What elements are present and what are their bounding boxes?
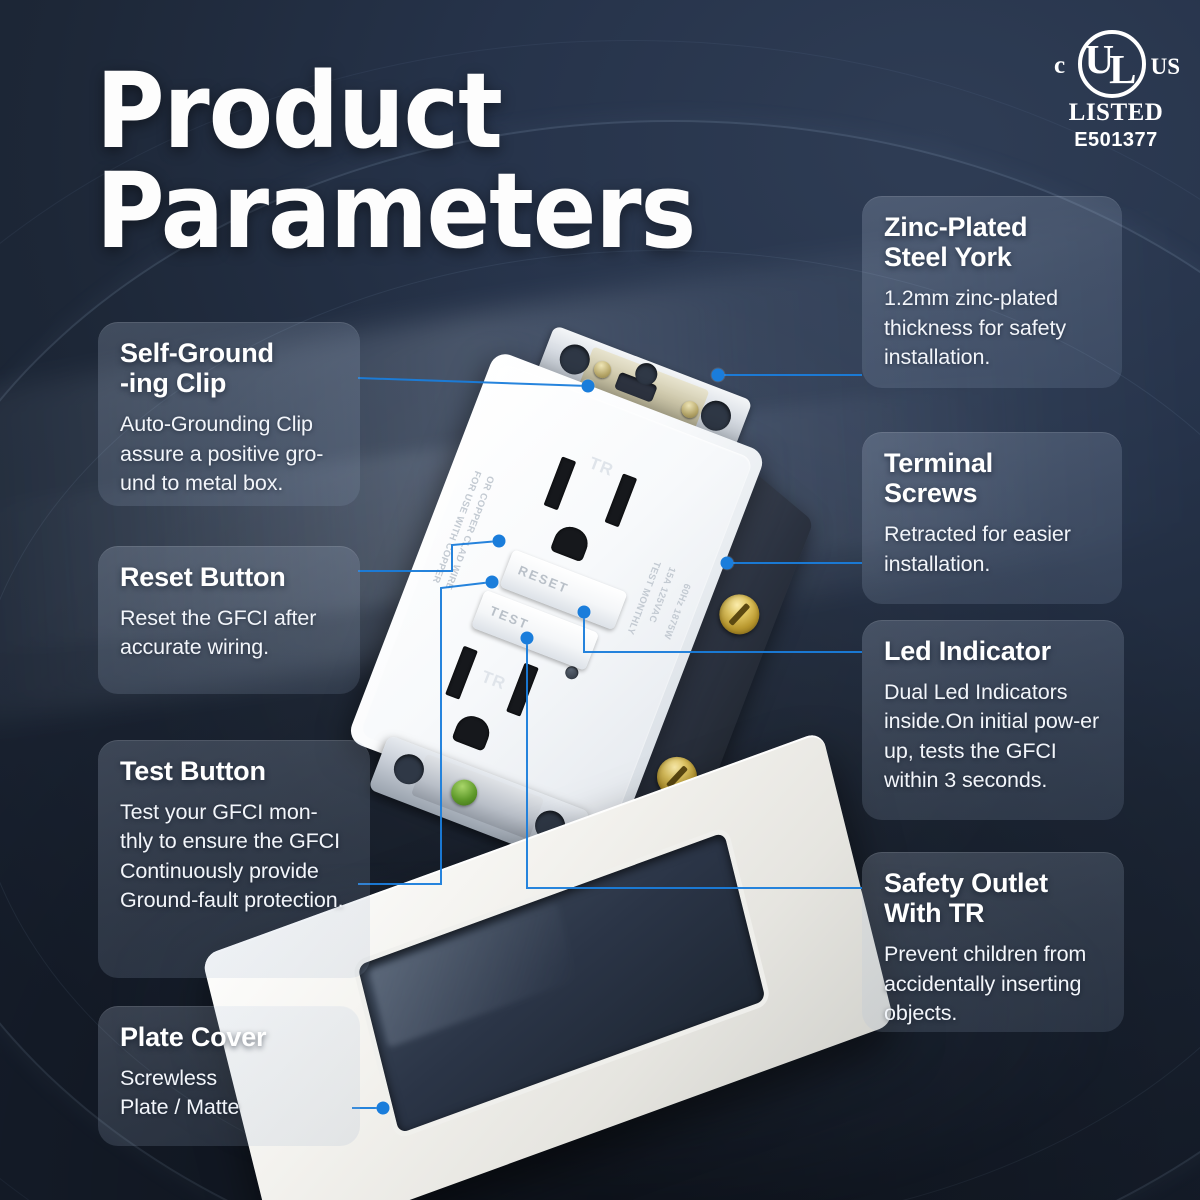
marker-dot-terminal-screws (721, 557, 734, 570)
callout-body-line2: Plate / Matte (120, 1095, 239, 1119)
callout-title: Reset Button (120, 562, 340, 592)
marker-dot-self-grounding-clip (582, 380, 595, 393)
screw-slot-icon (728, 603, 750, 626)
callout-title: Self-Ground-ing Clip (120, 338, 340, 398)
callout-body: Reset the GFCI after accurate wiring. (120, 604, 340, 662)
callout-self-grounding-clip[interactable]: Self-Ground-ing Clip Auto-Grounding Clip… (98, 322, 360, 506)
ul-listed-text: LISTED (1052, 100, 1180, 125)
callout-title: Safety OutletWith TR (884, 868, 1104, 928)
callout-body: 1.2mm zinc-plated thickness for safety i… (884, 284, 1102, 372)
callout-title: Test Button (120, 756, 350, 786)
callout-body: Dual Led Indicators inside.On initial po… (884, 678, 1104, 795)
callout-title-line1: Safety Outlet (884, 868, 1048, 898)
ul-mark-row: c UL US (1052, 28, 1180, 102)
marker-dot-reset-button (493, 535, 506, 548)
callout-body: Auto-Grounding Clip assure a positive gr… (120, 410, 340, 498)
callout-title: Led Indicator (884, 636, 1104, 666)
callout-title-line1: Self-Ground (120, 338, 274, 368)
callout-plate-cover[interactable]: Plate Cover ScrewlessPlate / Matte (98, 1006, 360, 1146)
test-button-label: TEST (488, 603, 532, 632)
page-title-line2: Parameters (96, 162, 856, 262)
callout-title-line1: Terminal (884, 448, 993, 478)
callout-title-line2: With TR (884, 898, 984, 928)
callout-title: Plate Cover (120, 1022, 340, 1052)
callout-body: ScrewlessPlate / Matte (120, 1064, 340, 1122)
callout-terminal-screws[interactable]: TerminalScrews Retracted for easier inst… (862, 432, 1122, 604)
callout-title: TerminalScrews (884, 448, 1102, 508)
wall-plate-opening-sheen (369, 902, 576, 1048)
ul-c-mark: c (1054, 52, 1065, 80)
page-title: Product Parameters (96, 62, 856, 262)
ul-letters: UL (1078, 30, 1146, 98)
callout-title-line2: -ing Clip (120, 368, 226, 398)
callout-body: Test your GFCI mon-thly to ensure the GF… (120, 798, 350, 915)
callout-title-line1: Zinc-Plated (884, 212, 1027, 242)
callout-title-line2: Steel York (884, 242, 1012, 272)
callout-body: Retracted for easier installation. (884, 520, 1102, 578)
ul-file-number: E501377 (1052, 129, 1180, 152)
callout-safety-outlet-with-tr[interactable]: Safety OutletWith TR Prevent children fr… (862, 852, 1124, 1032)
callout-title: Zinc-PlatedSteel York (884, 212, 1102, 272)
callout-body: Prevent children from accidentally inser… (884, 940, 1104, 1028)
callout-zinc-plated-steel-york[interactable]: Zinc-PlatedSteel York 1.2mm zinc-plated … (862, 196, 1122, 388)
page-title-line1: Product (96, 62, 856, 162)
ul-letter-l: L (1109, 49, 1135, 90)
callout-title-line2: Screws (884, 478, 977, 508)
marker-dot-plate-cover (377, 1102, 390, 1115)
marker-dot-safety-outlet (521, 632, 534, 645)
marker-dot-test-button (486, 576, 499, 589)
ul-listed-badge: c UL US LISTED E501377 (1052, 28, 1180, 156)
callout-test-button[interactable]: Test Button Test your GFCI mon-thly to e… (98, 740, 370, 978)
ul-us-mark: US (1151, 54, 1180, 80)
marker-dot-led-indicator (578, 606, 591, 619)
wall-plate-opening (357, 832, 765, 1133)
marker-dot-zinc-plated-steel-york (712, 369, 725, 382)
callout-reset-button[interactable]: Reset Button Reset the GFCI after accura… (98, 546, 360, 694)
infographic-canvas: c UL US LISTED E501377 Product Parameter… (0, 0, 1200, 1200)
callout-body-line1: Screwless (120, 1066, 217, 1090)
callout-led-indicator[interactable]: Led Indicator Dual Led Indicators inside… (862, 620, 1124, 820)
reset-button-label: RESET (516, 562, 571, 596)
